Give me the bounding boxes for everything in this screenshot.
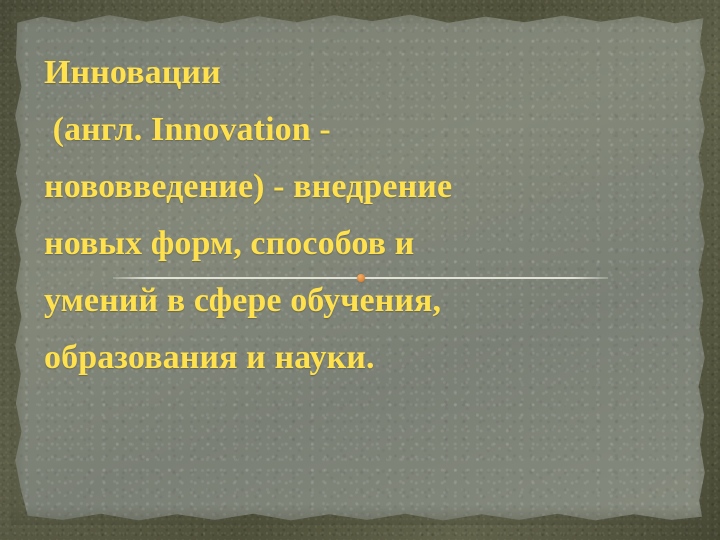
text-line: образования и науки.: [44, 329, 684, 386]
text-line: (англ. Innovation -: [44, 101, 684, 158]
text-line: новых форм, способов и: [44, 215, 684, 272]
text-line: нововведение) - внедрение: [44, 158, 684, 215]
presentation-slide: Инновации (англ. Innovation - нововведен…: [0, 0, 720, 540]
slide-text-block: Инновации (англ. Innovation - нововведен…: [44, 44, 684, 386]
text-line: Инновации: [44, 44, 684, 101]
text-line: умений в сфере обучения,: [44, 272, 684, 329]
